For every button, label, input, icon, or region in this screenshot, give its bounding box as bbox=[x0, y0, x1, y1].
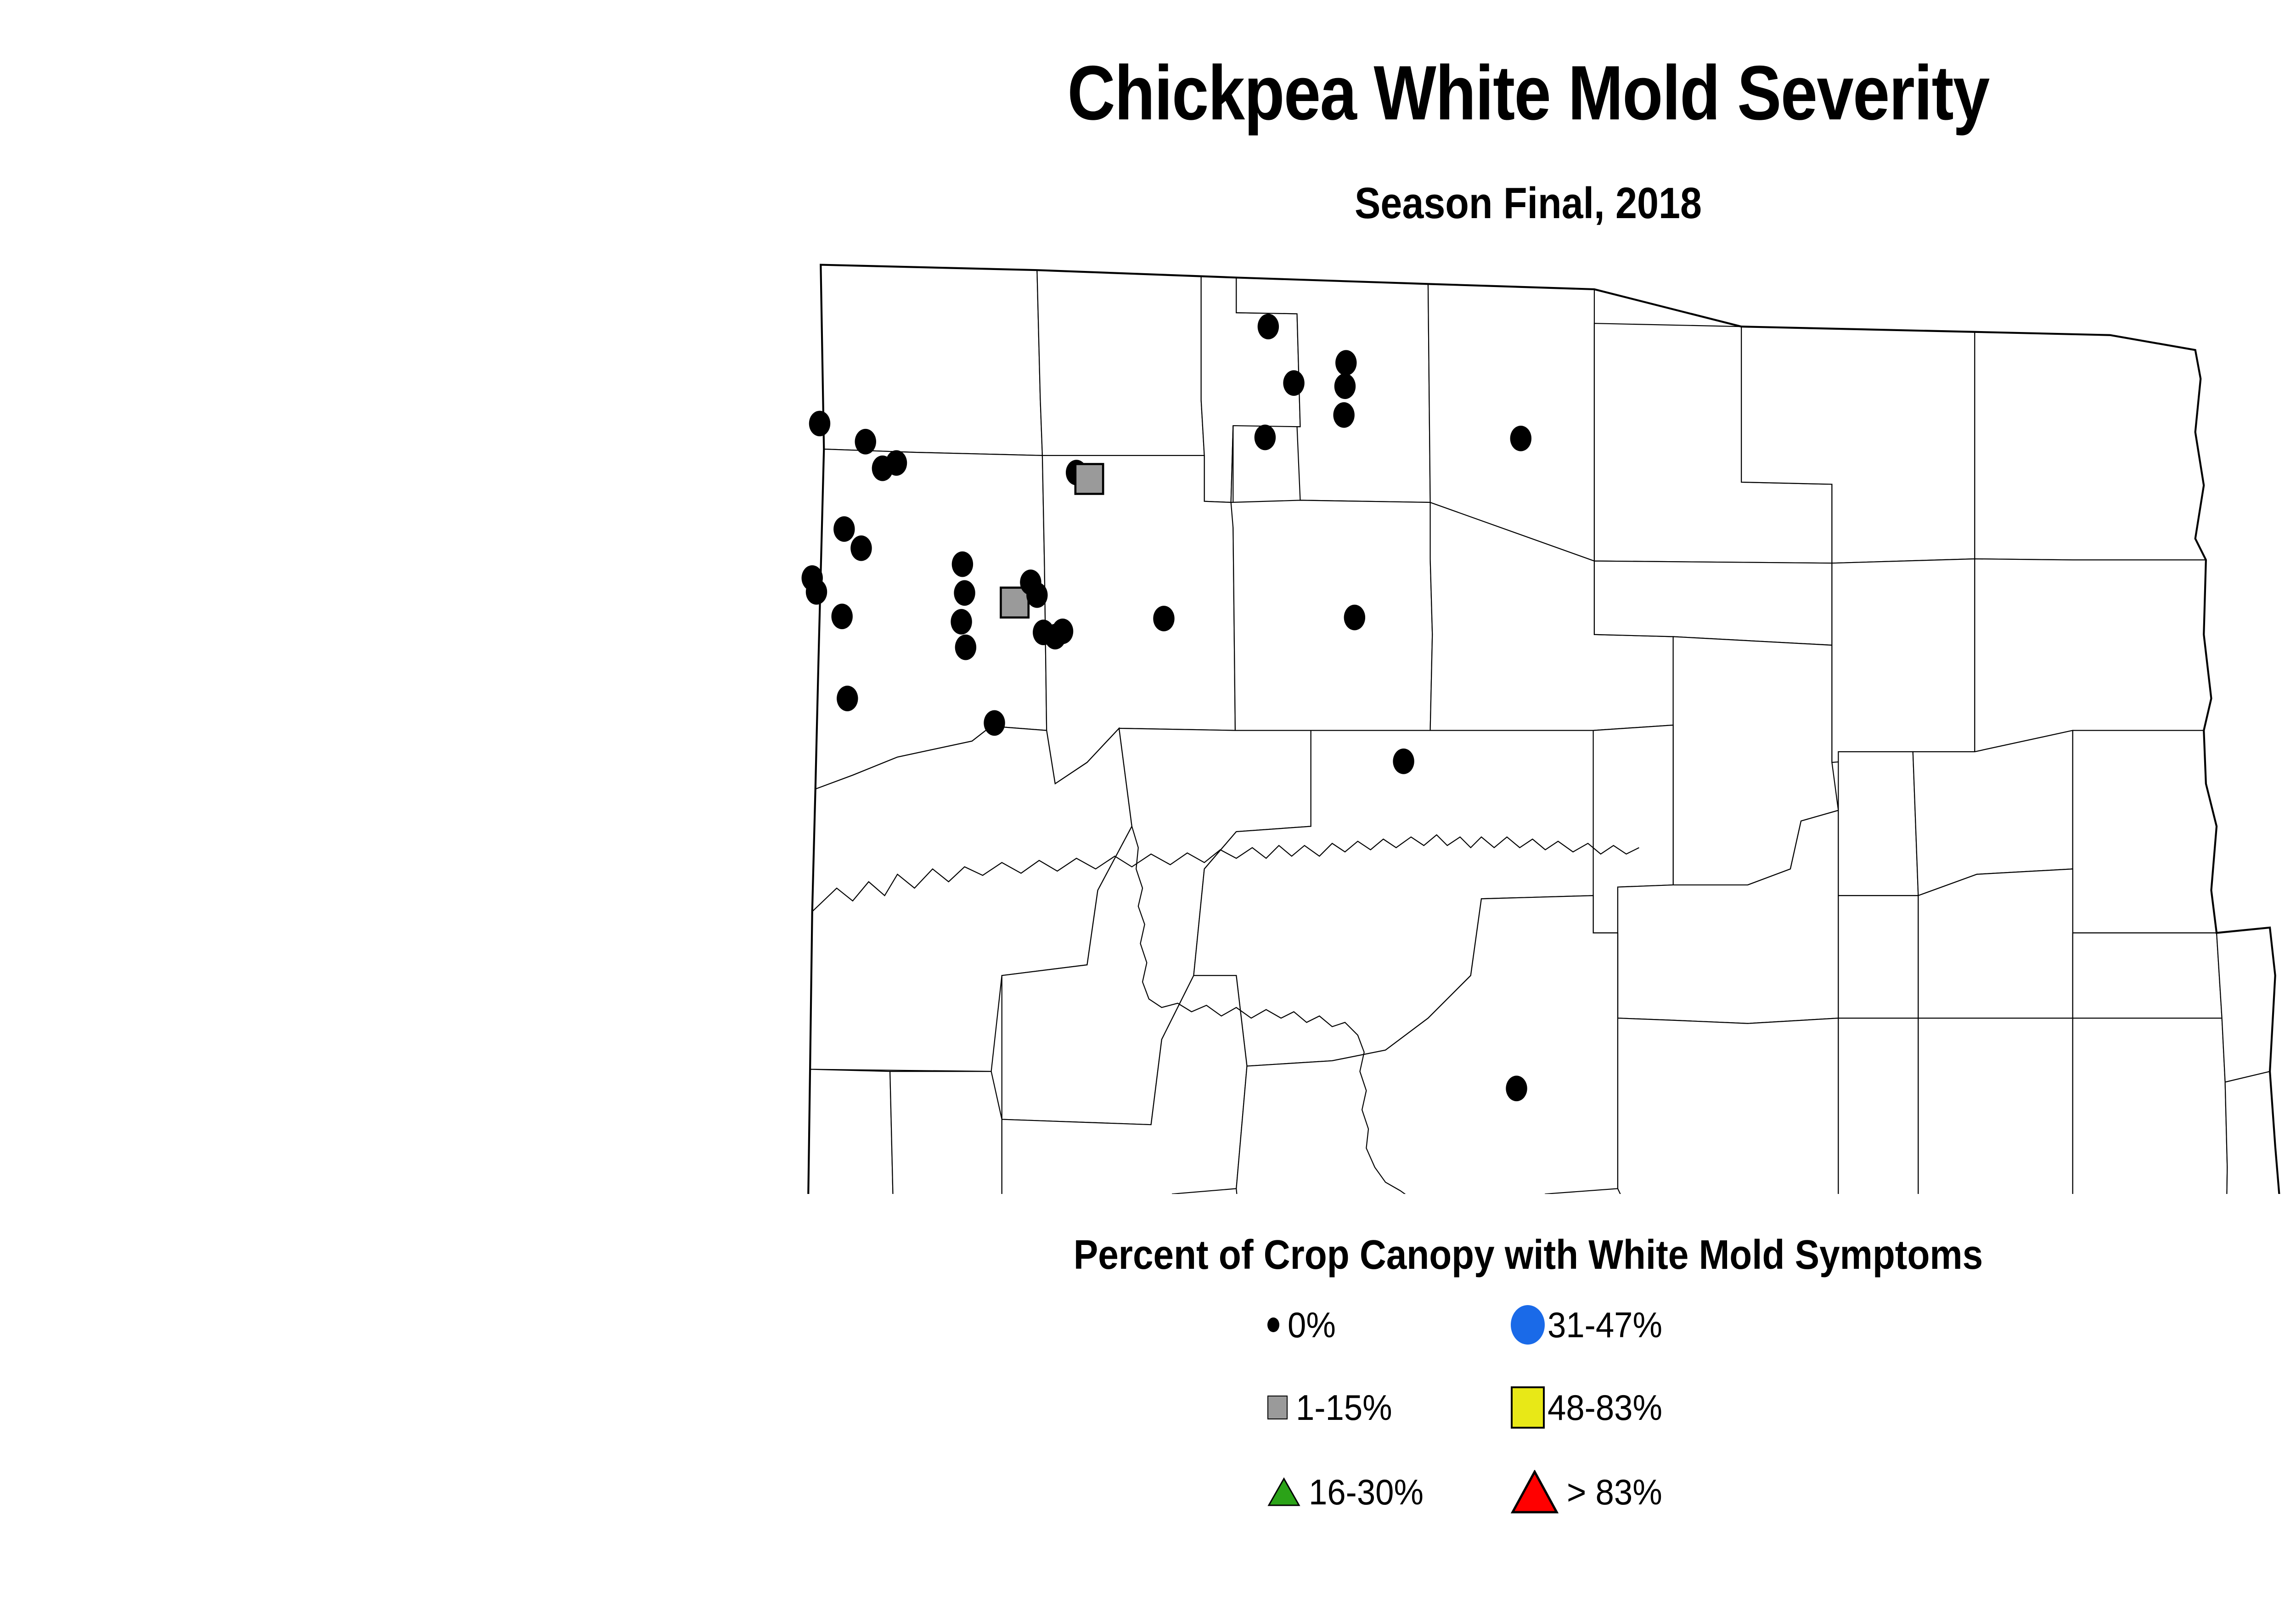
county-burke[interactable] bbox=[1037, 270, 1204, 456]
county-divide[interactable] bbox=[821, 265, 1042, 456]
map-data-point[interactable] bbox=[954, 580, 975, 606]
legend-item-48-83pct[interactable]: 48-83% bbox=[1511, 1387, 1671, 1428]
legend-label-48-83pct: 48-83% bbox=[1548, 1390, 1662, 1425]
green-triangle-icon bbox=[1267, 1477, 1300, 1507]
map-data-point[interactable] bbox=[1333, 402, 1354, 428]
map-figure: Chickpea White Mold Severity Season Fina… bbox=[0, 0, 2296, 1610]
page-subtitle: Season Final, 2018 bbox=[183, 181, 2296, 225]
red-triangle-icon bbox=[1511, 1470, 1559, 1514]
map-data-point[interactable] bbox=[1026, 582, 1047, 608]
map-data-point[interactable] bbox=[850, 535, 872, 561]
legend-item-16-30pct[interactable]: 16-30% bbox=[1267, 1471, 1432, 1513]
map-data-point[interactable] bbox=[1344, 605, 1365, 630]
county-golden-valley[interactable] bbox=[808, 1070, 897, 1194]
map-data-point[interactable] bbox=[837, 686, 858, 711]
legend-item-0pct[interactable]: 0% bbox=[1267, 1304, 1339, 1345]
county-layer bbox=[808, 265, 2285, 1194]
map-data-point[interactable] bbox=[1153, 606, 1174, 631]
legend-label-gt83pct: > 83% bbox=[1567, 1474, 1662, 1510]
county-traill[interactable] bbox=[2217, 928, 2275, 1082]
map-data-point[interactable] bbox=[855, 429, 876, 455]
county-walsh[interactable] bbox=[1975, 559, 2211, 752]
county-cass[interactable] bbox=[2225, 1071, 2281, 1194]
county-kidder[interactable] bbox=[1838, 1018, 1918, 1194]
county-pembina[interactable] bbox=[1975, 332, 2206, 560]
map-data-point[interactable] bbox=[1255, 425, 1276, 450]
map-data-point[interactable] bbox=[952, 552, 973, 577]
county-eddy[interactable] bbox=[1838, 752, 1918, 895]
map-data-point[interactable] bbox=[984, 710, 1005, 736]
county-foster[interactable] bbox=[1838, 895, 1918, 1018]
county-barnes[interactable] bbox=[2073, 1018, 2227, 1194]
map-data-point[interactable] bbox=[955, 635, 976, 660]
legend-item-31-47pct[interactable]: 31-47% bbox=[1511, 1304, 1671, 1345]
county-pierce[interactable] bbox=[1594, 561, 1832, 645]
legend-item-1-15pct[interactable]: 1-15% bbox=[1267, 1387, 1399, 1428]
map-data-point[interactable] bbox=[1506, 1075, 1527, 1101]
map-data-point[interactable] bbox=[831, 603, 852, 629]
map-data-point[interactable] bbox=[886, 450, 907, 476]
map-data-point[interactable] bbox=[833, 516, 855, 542]
legend-label-31-47pct: 31-47% bbox=[1548, 1307, 1662, 1343]
page-title: Chickpea White Mold Severity bbox=[214, 54, 2296, 131]
county-stutsman[interactable] bbox=[1918, 1018, 2072, 1194]
gray-square-icon bbox=[1267, 1396, 1288, 1419]
county-griggs[interactable] bbox=[1918, 869, 2072, 1018]
north-dakota-county-map[interactable] bbox=[735, 230, 2296, 1194]
yellow-square-icon bbox=[1511, 1386, 1545, 1429]
county-grand-forks[interactable] bbox=[2073, 731, 2217, 933]
legend-title: Percent of Crop Canopy with White Mold S… bbox=[168, 1234, 2296, 1276]
map-data-point[interactable] bbox=[806, 579, 827, 605]
map-data-point[interactable] bbox=[1335, 350, 1356, 376]
legend-label-0pct: 0% bbox=[1288, 1307, 1336, 1343]
black-dot-icon bbox=[1267, 1317, 1279, 1332]
legend-label-16-30pct: 16-30% bbox=[1309, 1474, 1424, 1510]
map-data-point[interactable] bbox=[1075, 464, 1103, 494]
map-data-point[interactable] bbox=[809, 411, 830, 436]
county-billings[interactable] bbox=[890, 1071, 1002, 1194]
county-ramsey[interactable] bbox=[1832, 559, 1975, 762]
map-data-point[interactable] bbox=[1052, 619, 1073, 644]
legend-label-1-15pct: 1-15% bbox=[1296, 1390, 1392, 1425]
map-data-point[interactable] bbox=[1283, 370, 1304, 396]
map-data-point[interactable] bbox=[1393, 749, 1414, 774]
blue-circle-icon bbox=[1511, 1305, 1545, 1345]
legend-item-gt83pct[interactable]: > 83% bbox=[1511, 1471, 1669, 1513]
map-data-point[interactable] bbox=[1510, 426, 1531, 451]
county-steele[interactable] bbox=[2073, 933, 2222, 1018]
legend: 0% 1-15% 16-30% 31-47% 48-83% bbox=[1267, 1304, 1818, 1561]
map-svg bbox=[735, 230, 2296, 1194]
county-ward[interactable] bbox=[1231, 500, 1433, 730]
map-data-point[interactable] bbox=[1258, 314, 1279, 339]
map-data-point[interactable] bbox=[951, 609, 972, 635]
map-data-point[interactable] bbox=[1334, 373, 1356, 399]
